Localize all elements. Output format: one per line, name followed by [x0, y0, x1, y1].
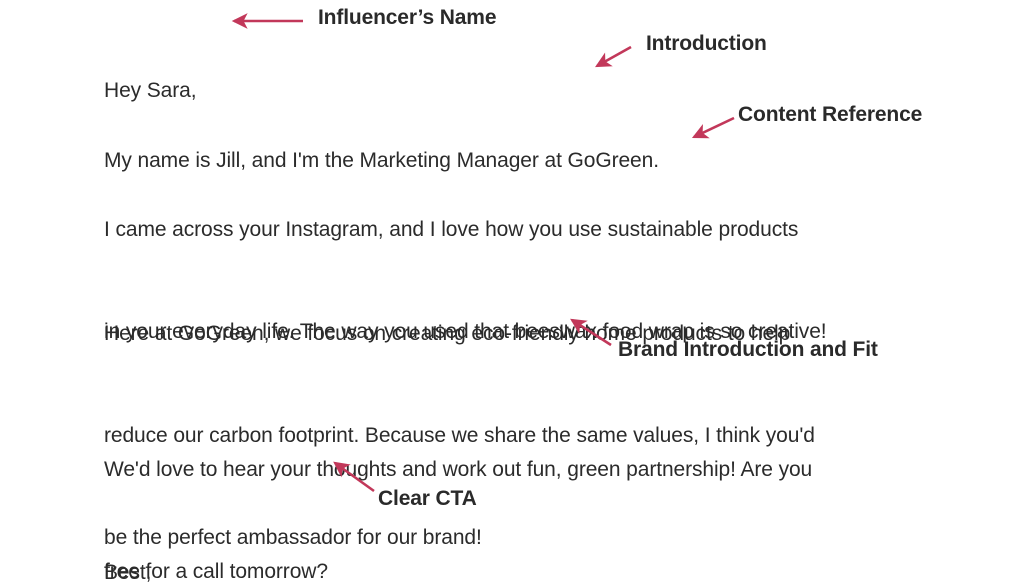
- annotation-label-brand-fit: Brand Introduction and Fit: [618, 338, 878, 362]
- annotation-label-call-to-action: Clear CTA: [378, 487, 477, 511]
- arrow-content-reference: [694, 118, 734, 137]
- paragraph-line: We'd love to hear your thoughts and work…: [104, 453, 812, 487]
- annotation-label-content-reference: Content Reference: [738, 103, 922, 127]
- signoff-closing: Best,: [104, 556, 151, 584]
- annotation-label-influencer-name: Influencer’s Name: [318, 6, 496, 30]
- arrow-introduction: [597, 47, 631, 66]
- annotation-label-introduction: Introduction: [646, 32, 767, 56]
- paragraph-line: free for a call tomorrow?: [104, 555, 812, 584]
- paragraph-line: I came across your Instagram, and I love…: [104, 213, 827, 247]
- annotated-email-diagram: Hey Sara, My name is Jill, and I'm the M…: [0, 0, 1024, 584]
- paragraph-call-to-action: We'd love to hear your thoughts and work…: [104, 385, 812, 584]
- email-signoff: Best, Jill: [104, 488, 151, 584]
